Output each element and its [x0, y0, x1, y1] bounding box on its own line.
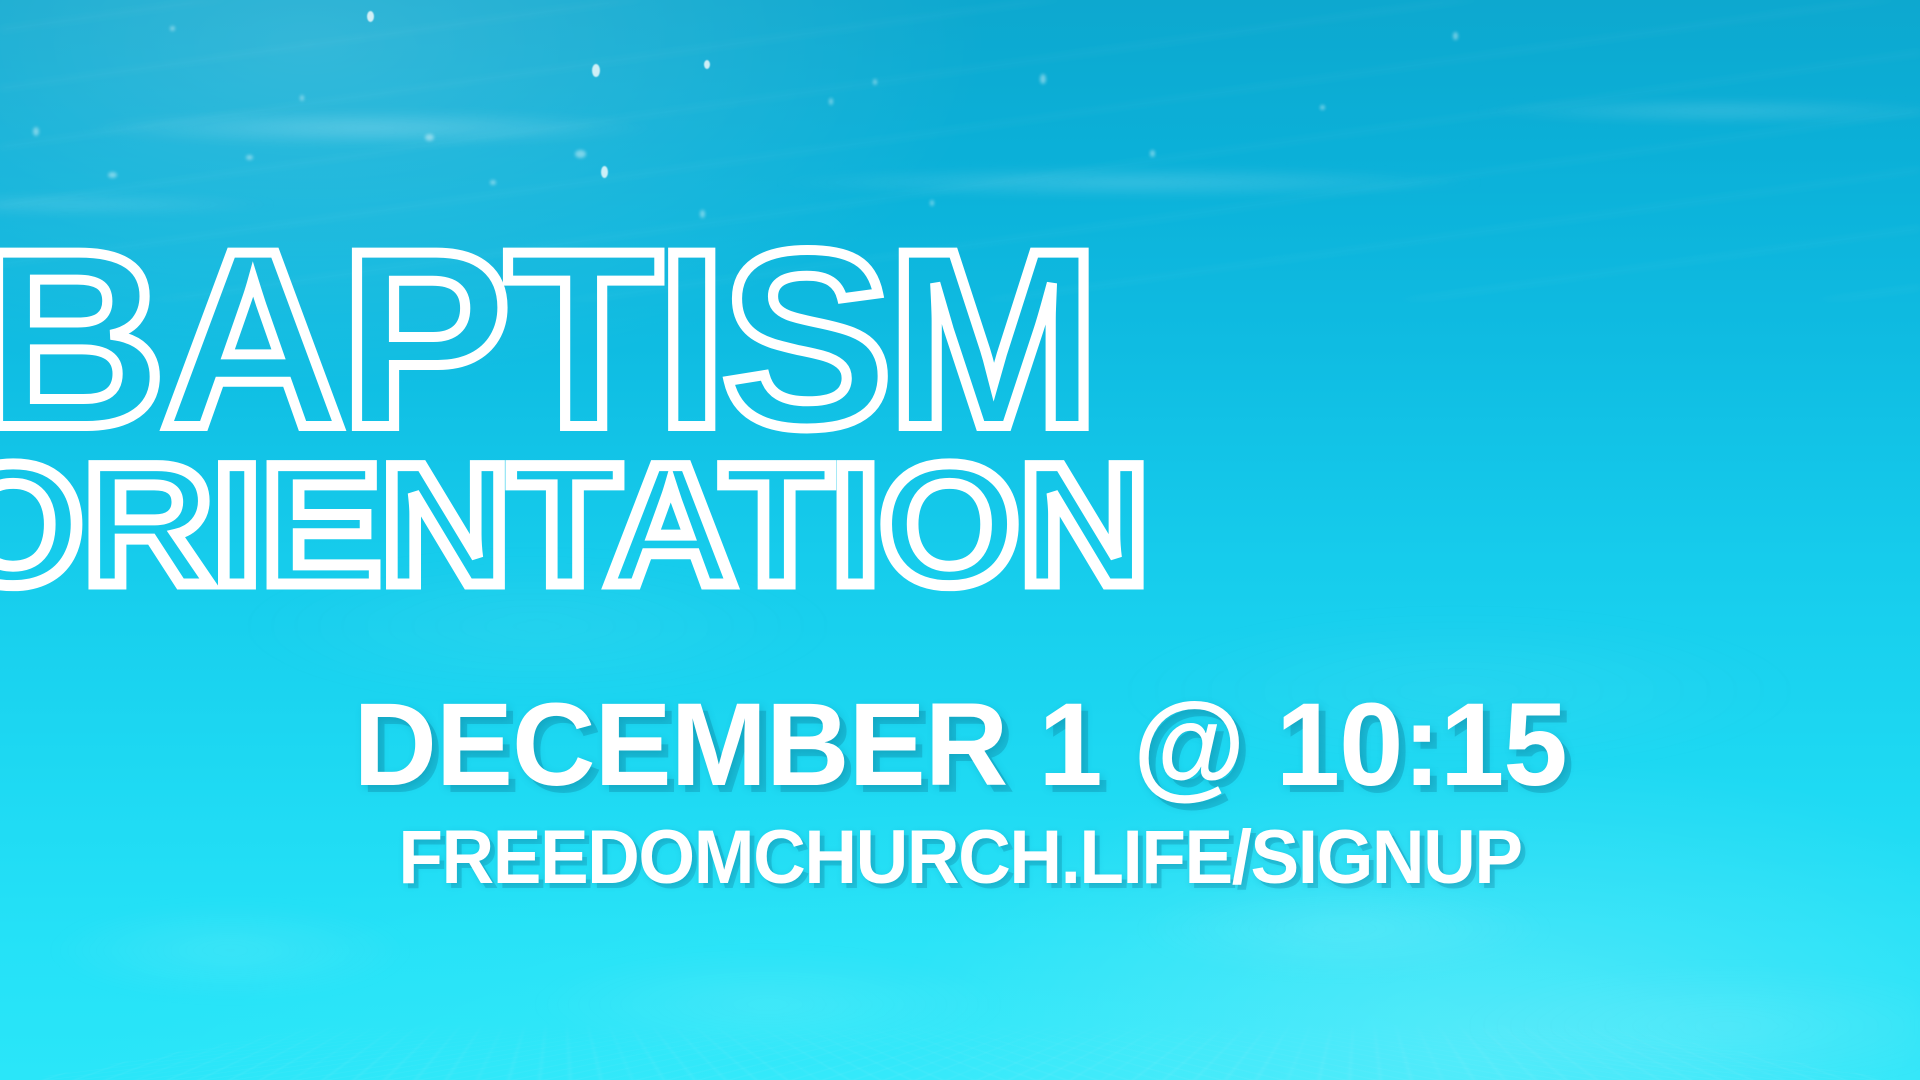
promo-content: BAPTISM ORIENTATION DECEMBER 1 @ 10:15 F… — [0, 0, 1920, 1080]
headline-orientation: ORIENTATION — [0, 452, 1920, 600]
headline-baptism: BAPTISM — [0, 232, 1920, 449]
signup-url[interactable]: FREEDOMCHURCH.LIFE/SIGNUP — [38, 820, 1881, 896]
event-date-time: DECEMBER 1 @ 10:15 — [19, 686, 1901, 804]
promo-graphic-canvas: BAPTISM ORIENTATION DECEMBER 1 @ 10:15 F… — [0, 0, 1920, 1080]
